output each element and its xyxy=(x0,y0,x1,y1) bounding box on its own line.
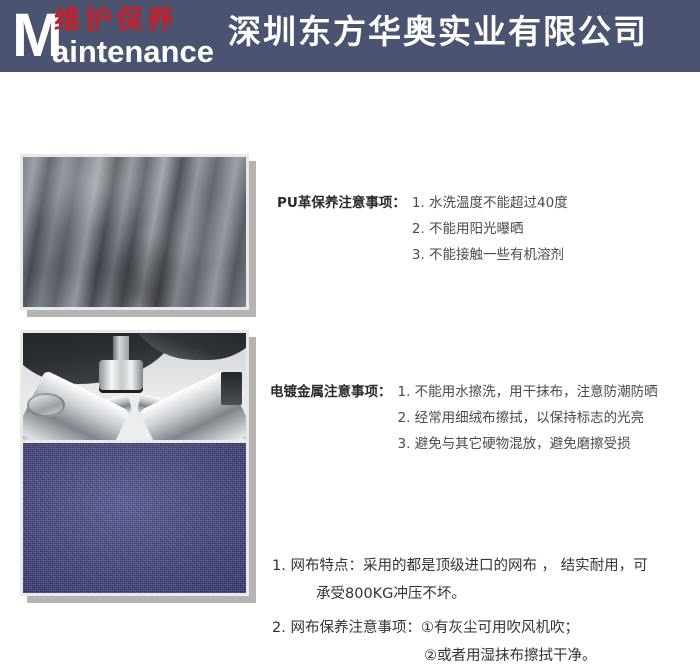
pu-leather-items: 1. 水洗温度不能超过40度 2. 不能用阳光曝晒 3. 不能接触一些有机溶剂 xyxy=(412,190,568,268)
list-item: 3. 不能接触一些有机溶剂 xyxy=(412,242,568,268)
base-hub xyxy=(99,360,144,393)
plated-metal-text-block: 电镀金属注意事项： 1. 不能用水擦洗，用干抹布，注意防潮防晒 2. 经常用细绒… xyxy=(270,379,658,457)
plated-metal-items: 1. 不能用水擦洗，用干抹布，注意防潮防晒 2. 经常用细绒布擦拭，以保持标志的… xyxy=(398,379,658,457)
list-item: 3. 避免与其它硬物混放，避免磨擦受损 xyxy=(398,431,658,457)
list-item: 2. 不能用阳光曝晒 xyxy=(412,216,568,242)
list-item: 2. 经常用细绒布擦拭，以保持标志的光亮 xyxy=(398,405,658,431)
plated-metal-label: 电镀金属注意事项： xyxy=(270,379,392,405)
content-area: PU革保养注意事项： 1. 水洗温度不能超过40度 2. 不能用阳光曝晒 3. … xyxy=(0,72,700,588)
mesh-item1-label: 网布特点： xyxy=(290,558,363,574)
mesh-item2-number: 2. xyxy=(272,614,286,642)
logo-english-text: aintenance xyxy=(52,35,214,69)
mesh-item2-sub2: ②或者用湿抹布擦拭干净。 xyxy=(272,642,648,670)
list-item: 1. 水洗温度不能超过40度 xyxy=(412,190,568,216)
mesh-item1-continuation: 承受800KG冲压不坏。 xyxy=(272,580,648,608)
list-item: 1. 不能用水擦洗，用干抹布，注意防潮防晒 xyxy=(398,379,658,405)
black-clip xyxy=(221,372,241,405)
mesh-item1-text: 采用的都是顶级进口的网布 ， 结实耐用，可 xyxy=(363,558,648,574)
pu-leather-text-block: PU革保养注意事项： 1. 水洗温度不能超过40度 2. 不能用阳光曝晒 3. … xyxy=(277,190,568,268)
photo-frame xyxy=(20,154,249,310)
mesh-item2-sub1: ①有灰尘可用吹风机吹； xyxy=(421,620,579,636)
mesh-feature-item: 1. 网布特点：采用的都是顶级进口的网布 ， 结实耐用，可 承受800KG冲压不… xyxy=(272,552,648,608)
mesh-item1-number: 1. xyxy=(272,552,286,580)
pu-leather-label: PU革保养注意事项： xyxy=(277,190,406,216)
maintenance-logo: M 维护保养 aintenance xyxy=(10,2,225,70)
page-header: M 维护保养 aintenance 深圳东方华奥实业有限公司 xyxy=(0,0,700,72)
pu-leather-image xyxy=(23,157,246,307)
blue-mesh-photo xyxy=(20,440,249,596)
blue-mesh-image xyxy=(23,443,246,593)
photo-frame xyxy=(20,440,249,596)
company-name: 深圳东方华奥实业有限公司 xyxy=(228,8,648,56)
mesh-care-item: 2. 网布保养注意事项：①有灰尘可用吹风机吹； ②或者用湿抹布擦拭干净。 xyxy=(272,614,648,670)
pu-leather-photo xyxy=(20,154,249,310)
mesh-text-block: 1. 网布特点：采用的都是顶级进口的网布 ， 结实耐用，可 承受800KG冲压不… xyxy=(272,552,648,670)
mesh-item2-label: 网布保养注意事项： xyxy=(290,620,421,636)
logo-chinese-text: 维护保养 xyxy=(54,6,178,36)
